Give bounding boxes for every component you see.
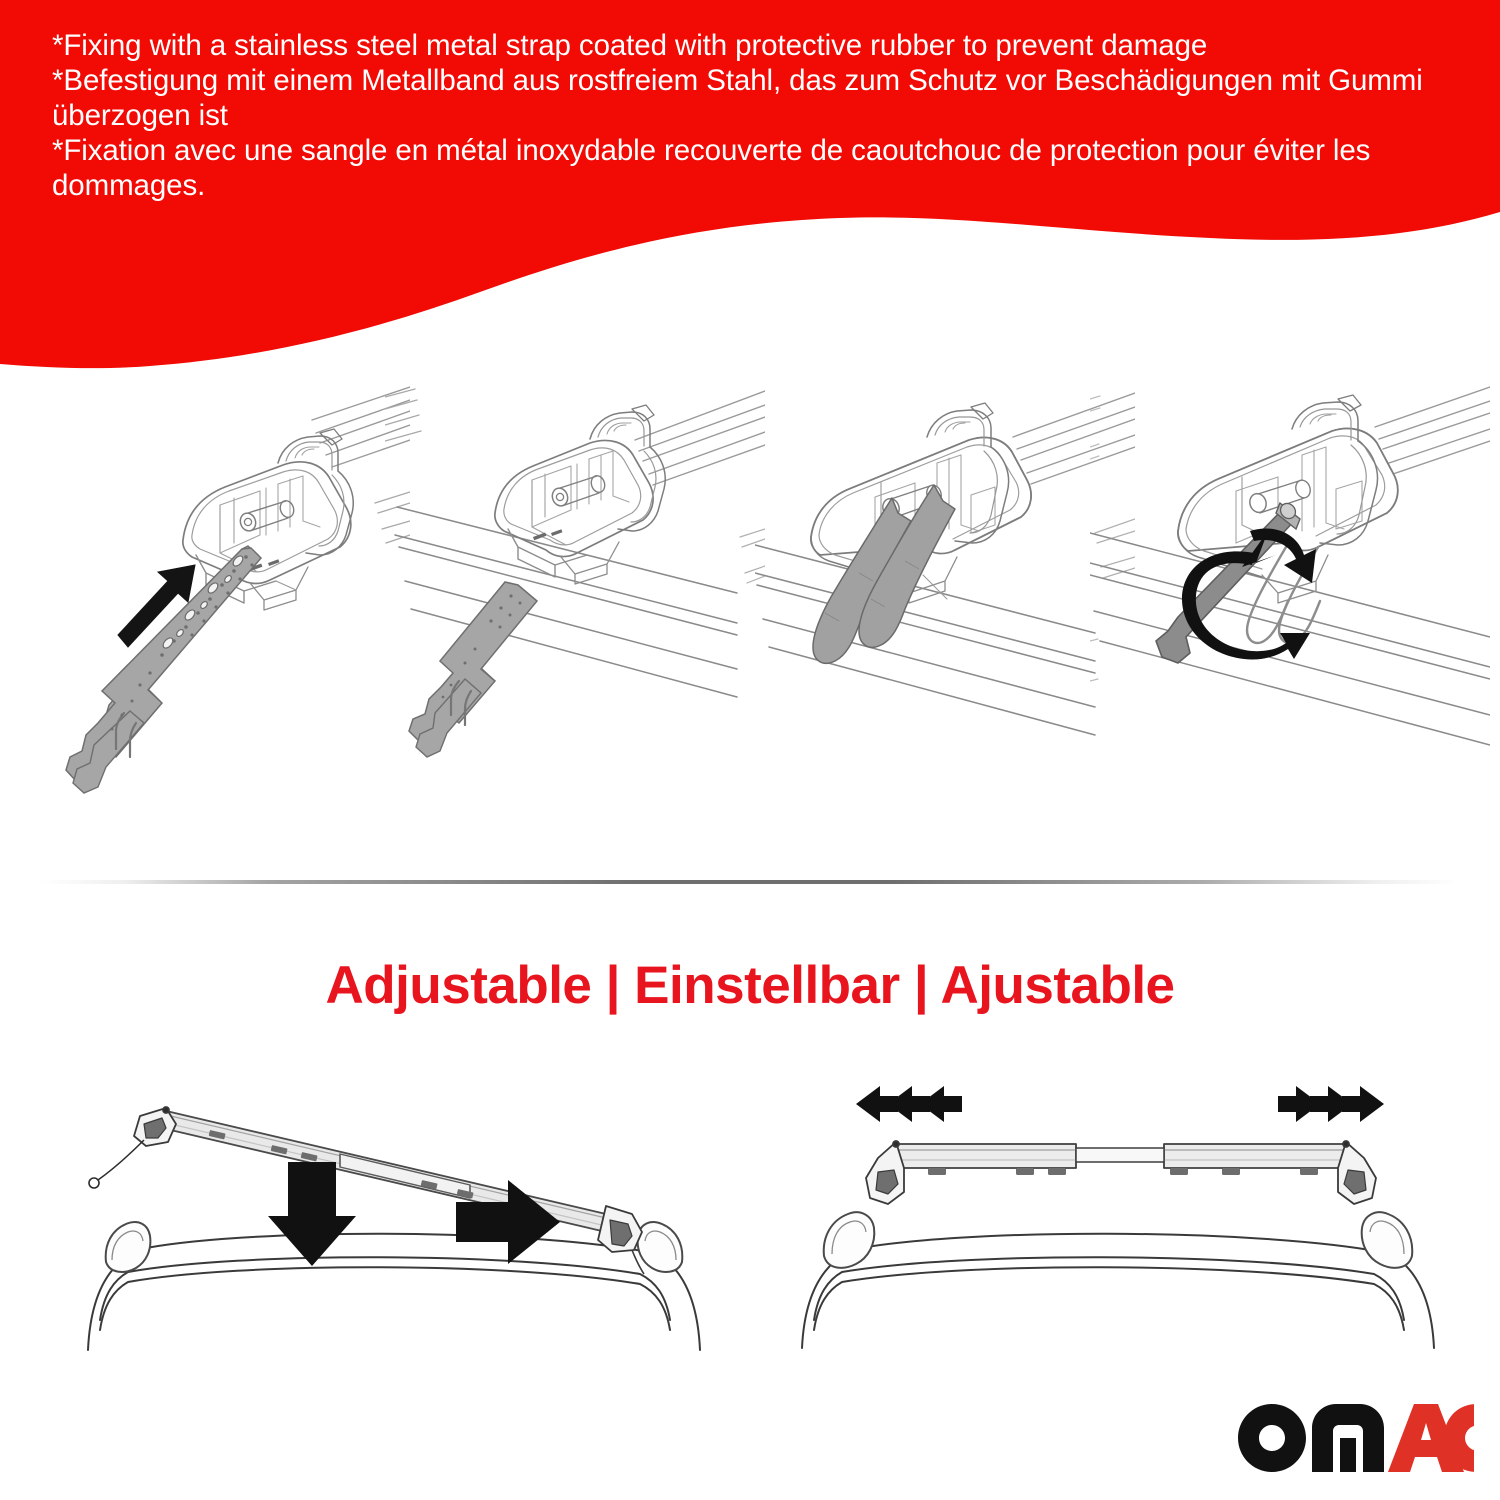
triple-arrow-right-icon [1278, 1086, 1384, 1122]
step-1-insert-strap [20, 385, 410, 855]
triple-arrow-left-icon [856, 1086, 962, 1122]
logo-letter-o [1238, 1404, 1306, 1472]
figure-crossbar-height-slide [40, 1080, 740, 1380]
step-4-tighten-allen-key [1090, 385, 1490, 855]
step-2-foot-on-rail [385, 385, 765, 855]
logo-letter-m [1312, 1404, 1384, 1472]
step-3-strap-around-rail [755, 385, 1135, 855]
banner-description-text: *Fixing with a stainless steel metal str… [52, 28, 1462, 203]
adjustability-figures-row [0, 1080, 1500, 1380]
figure-crossbar-width-adjust [780, 1080, 1460, 1380]
omac-logo [1232, 1398, 1474, 1478]
section-divider [40, 880, 1460, 884]
section-heading-adjustable: Adjustable | Einstellbar | Ajustable [0, 955, 1500, 1017]
arrow-down-icon [268, 1162, 356, 1266]
installation-steps-row [0, 385, 1500, 855]
infographic-page: *Fixing with a stainless steel metal str… [0, 0, 1500, 1500]
red-banner: *Fixing with a stainless steel metal str… [0, 0, 1500, 380]
